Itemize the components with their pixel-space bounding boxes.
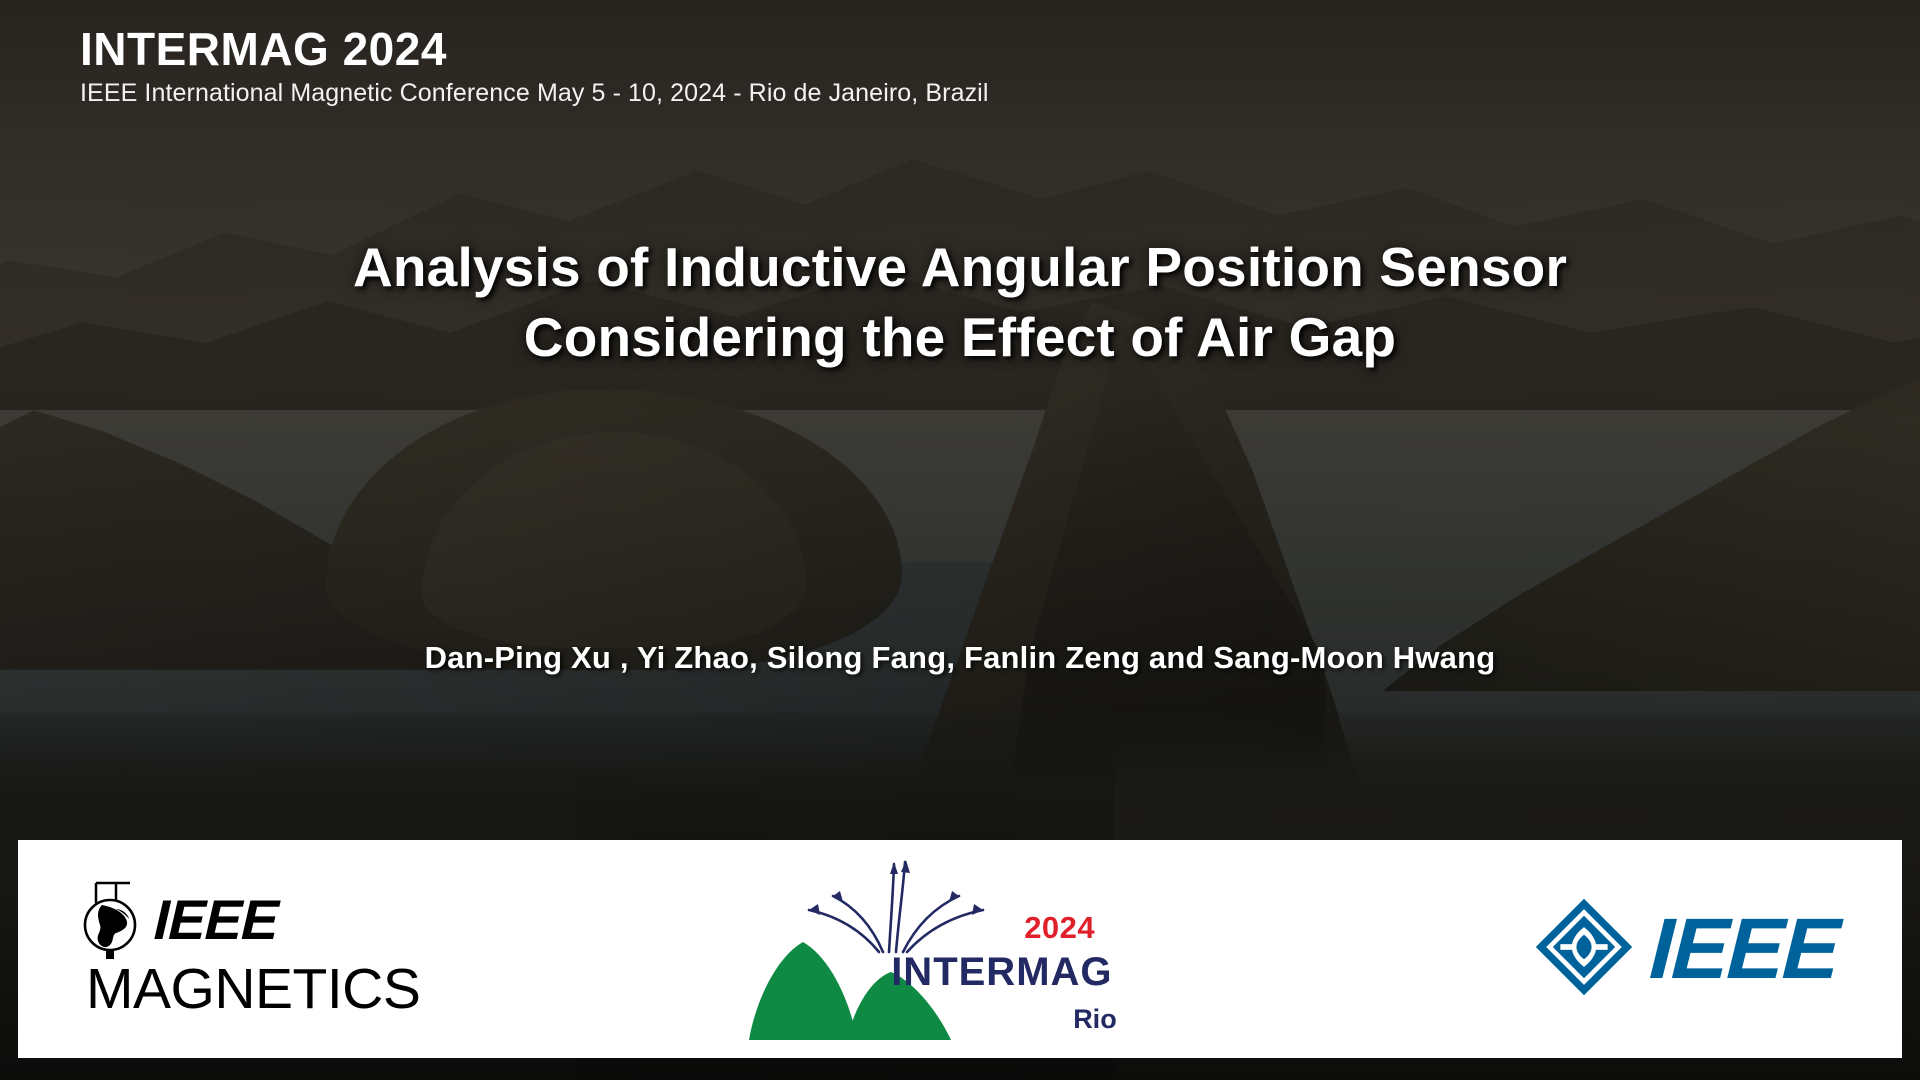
ieee-magnetics-top-row: IEEE: [82, 881, 278, 959]
author-list: Dan-Ping Xu , Yi Zhao, Silong Fang, Fanl…: [0, 640, 1920, 676]
slide-header: INTERMAG 2024 IEEE International Magneti…: [80, 26, 988, 107]
intermag-year: 2024: [1024, 910, 1095, 946]
intermag-wordmark: INTERMAG: [891, 950, 1112, 995]
footer-logo-bar: IEEE MAGNETICS: [18, 840, 1902, 1058]
ieee-magnetics-wordmark-ieee: IEEE: [153, 892, 279, 948]
intermag-city: Rio: [1073, 1004, 1117, 1035]
title-line-2: Considering the Effect of Air Gap: [110, 302, 1810, 372]
ieee-magnetics-wordmark-magnetics: MAGNETICS: [86, 961, 420, 1018]
intermag-rio-logo: INTERMAG 2024 Rio: [741, 854, 1211, 1044]
ieee-magnetics-logo: IEEE MAGNETICS: [82, 881, 420, 1018]
ieee-wordmark: IEEE: [1647, 900, 1840, 999]
presentation-title: Analysis of Inductive Angular Position S…: [0, 232, 1920, 373]
conference-name: INTERMAG 2024: [80, 26, 988, 74]
presentation-slide: INTERMAG 2024 IEEE International Magneti…: [0, 0, 1920, 1080]
ieee-master-logo: IEEE: [1532, 895, 1838, 1004]
title-line-1: Analysis of Inductive Angular Position S…: [110, 232, 1810, 302]
globe-icon: [82, 881, 144, 959]
conference-subtitle: IEEE International Magnetic Conference M…: [80, 80, 988, 108]
ieee-diamond-icon: [1532, 895, 1636, 1004]
